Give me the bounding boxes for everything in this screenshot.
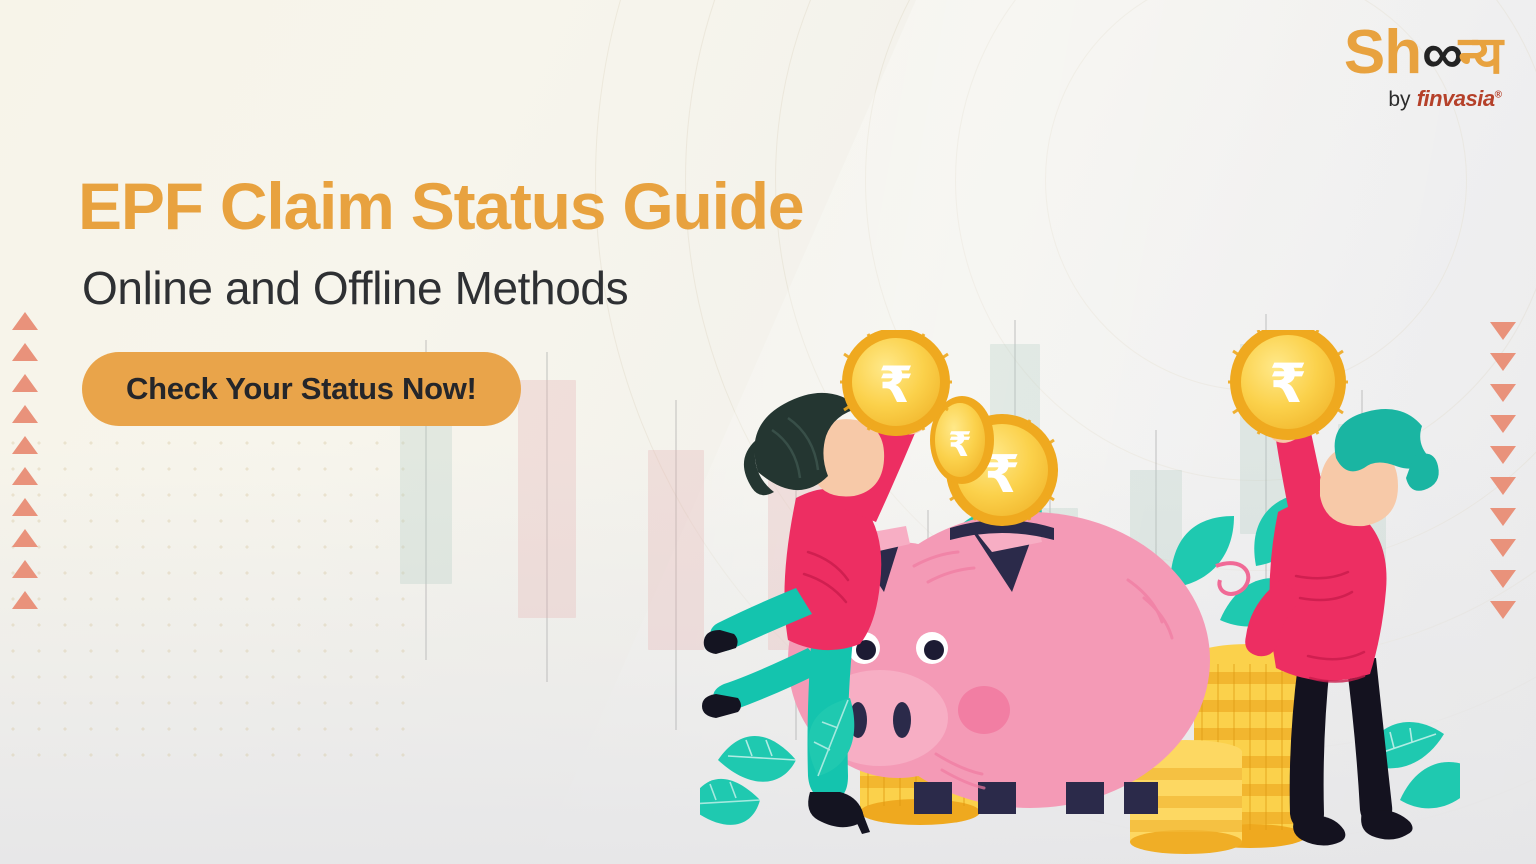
epf-claim-status-banner: Sh∞न्य by finvasia® EPF Claim Status Gui… xyxy=(0,0,1536,864)
triangle-down-icon xyxy=(1490,508,1516,526)
logo-byline: by finvasia® xyxy=(1344,88,1502,110)
triangle-up-icon xyxy=(12,312,38,330)
dot-grid-decoration xyxy=(0,430,420,760)
logo-by-label: by xyxy=(1388,88,1410,111)
man-held-coin: ₹ xyxy=(1228,330,1348,440)
page-subtitle: Online and Offline Methods xyxy=(82,263,803,314)
triangle-down-icon xyxy=(1490,539,1516,557)
left-triangle-strip xyxy=(12,312,38,609)
triangle-up-icon xyxy=(12,405,38,423)
triangle-down-icon xyxy=(1490,384,1516,402)
triangle-up-icon xyxy=(12,529,38,547)
hero-copy-block: EPF Claim Status Guide Online and Offlin… xyxy=(78,172,803,426)
triangle-up-icon xyxy=(12,498,38,516)
triangle-up-icon xyxy=(12,436,38,454)
page-title: EPF Claim Status Guide xyxy=(78,172,803,241)
triangle-down-icon xyxy=(1490,322,1516,340)
triangle-up-icon xyxy=(12,374,38,392)
triangle-down-icon xyxy=(1490,477,1516,495)
triangle-up-icon xyxy=(12,560,38,578)
finvasia-wordmark: finvasia xyxy=(1417,86,1495,111)
triangle-down-icon xyxy=(1490,353,1516,371)
logo-text-devanagari: न्य xyxy=(1458,26,1502,86)
triangle-up-icon xyxy=(12,591,38,609)
logo-text-sh: Sh xyxy=(1344,18,1421,87)
right-triangle-strip xyxy=(1490,322,1516,619)
triangle-up-icon xyxy=(12,467,38,485)
svg-text:₹: ₹ xyxy=(948,425,972,465)
triangle-down-icon xyxy=(1490,570,1516,588)
infinity-icon: ∞ xyxy=(1422,21,1457,86)
shoonya-logo[interactable]: Sh∞न्य by finvasia® xyxy=(1344,22,1502,110)
registered-mark-icon: ® xyxy=(1495,90,1502,101)
check-status-button[interactable]: Check Your Status Now! xyxy=(82,352,521,426)
triangle-down-icon xyxy=(1490,446,1516,464)
savings-illustration: ₹ ₹ xyxy=(700,330,1460,864)
logo-wordmark: Sh∞न्य xyxy=(1344,22,1502,84)
triangle-down-icon xyxy=(1490,415,1516,433)
svg-text:₹: ₹ xyxy=(879,356,914,414)
triangle-up-icon xyxy=(12,343,38,361)
svg-text:₹: ₹ xyxy=(1269,352,1307,415)
triangle-down-icon xyxy=(1490,601,1516,619)
